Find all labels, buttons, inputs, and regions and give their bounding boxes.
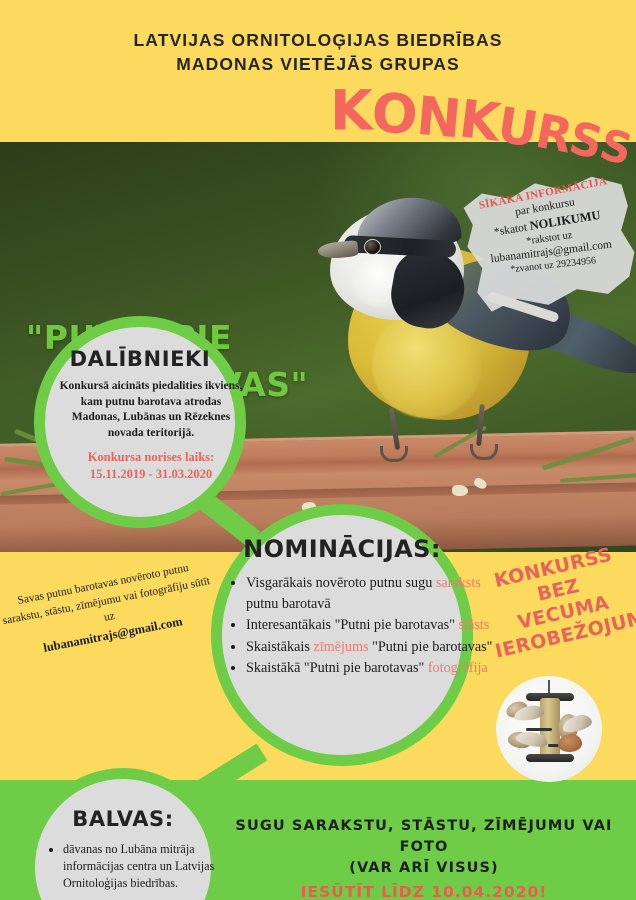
headline-letter: N [414,86,463,151]
dalibnieki-dates-label: Konkursa norises laiks: [59,449,243,466]
headline-letter: O [370,81,418,146]
cta-deadline: IESŪTĪT LĪDZ 10.04.2020! [212,881,636,900]
nomination-highlight: saraksts [436,575,481,591]
cta-line-1: SUGU SARAKSTU, STĀSTU, ZĪMĒJUMU VAI FOTO [212,816,636,858]
nomination-pre: Skaistākā "Putni pie barotavas" [246,660,428,676]
dalibnieki-dates-value: 15.11.2019 - 31.03.2020 [59,466,243,483]
organization-line-2: MADONAS VIETĒJĀS GRUPAS [0,52,636,76]
nomination-pre: Visgarākais novēroto putnu sugu [246,575,436,591]
bird-foot [380,446,408,462]
list-item: Visgarākais novēroto putnu sugu saraksts… [246,573,508,614]
list-item: Skaistākā "Putni pie barotavas" fotogrāf… [246,658,508,679]
nomination-pre: Skaistākais [246,639,313,655]
balvas-title: BALVAS: [35,807,211,831]
nominacijas-title: NOMINĀCIJAS: [222,535,462,563]
cta-line-2: (VAR ARĪ VISUS) [212,858,636,879]
call-to-action: SUGU SARAKSTU, STĀSTU, ZĪMĒJUMU VAI FOTO… [212,816,636,900]
nomination-pre: Interesantākais "Putni pie barotavas" [246,617,459,633]
list-item: Interesantākais "Putni pie barotavas" st… [246,615,508,636]
nomination-highlight: fotogrāfija [428,660,488,676]
nomination-post: putnu barotavā [246,596,331,612]
organization-title: LATVIJAS ORNITOLOĢIJAS BIEDRĪBAS MADONAS… [0,28,636,76]
info-note-text: SĪKĀKA INFORMĀCIJA par konkursu *skatot … [465,176,632,283]
bubble-dalibnieki: DALĪBNIEKI Konkursā aicināts piedalities… [34,316,246,528]
nominacijas-list: Visgarākais novēroto putnu sugu saraksts… [220,573,522,680]
poster-root: LATVIJAS ORNITOLOĢIJAS BIEDRĪBAS MADONAS… [0,0,636,900]
bird-eye [364,239,381,255]
feeder-base [526,754,574,762]
nomination-highlight: stāsts [459,617,490,633]
bird-leg [389,408,401,450]
headline-letter: K [330,78,372,142]
nomination-post: "Putni pie barotavas" [369,639,493,655]
bubble-nominacijas: NOMINĀCIJAS: Visgarākais novēroto putnu … [211,504,473,766]
bird-feeder-photo [496,676,602,782]
bird-foot [470,444,498,460]
dalibnieki-dates: Konkursa norises laiks: 15.11.2019 - 31.… [59,449,243,483]
info-note-card: SĪKĀKA INFORMĀCIJA par konkursu *skatot … [458,167,636,319]
nomination-highlight: zīmējums [313,639,368,655]
dalibnieki-title: DALĪBNIEKI [45,347,235,371]
organization-line-1: LATVIJAS ORNITOLOĢIJAS BIEDRĪBAS [0,28,636,52]
dalibnieki-body: Konkursā aicināts piedalities ikviens, k… [59,379,243,441]
list-item: Skaistākais zīmējums "Putni pie barotava… [246,637,508,658]
feeder-perch [526,728,552,731]
